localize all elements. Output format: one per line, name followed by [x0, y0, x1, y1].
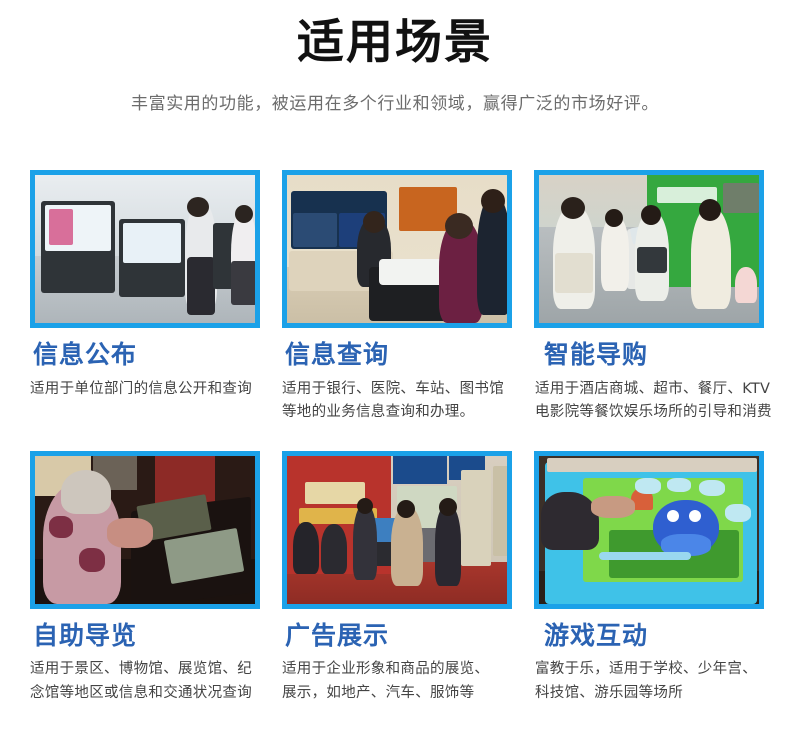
scenario-description: 适用于银行、医院、车站、图书馆 等地的业务信息查询和办理。 [282, 378, 512, 425]
scenario-card-advertising-display[interactable]: 广告展示 适用于企业形象和商品的展览、 展示，如地产、汽车、服饰等 [282, 451, 512, 706]
card-row-1: 信息公布 适用于单位部门的信息公开和查询 [30, 170, 765, 425]
scenario-title: 信息查询 [285, 341, 512, 370]
desc-line: 念馆等地区或信息和交通状况查询 [30, 682, 260, 705]
scenario-photo-smart-shopping-guide [534, 170, 764, 328]
scenario-card-grid: 信息公布 适用于单位部门的信息公开和查询 [30, 170, 765, 705]
desc-line: 科技馆、游乐园等场所 [535, 682, 764, 705]
scenario-card-info-query[interactable]: 信息查询 适用于银行、医院、车站、图书馆 等地的业务信息查询和办理。 [282, 170, 512, 425]
desc-line: 电影院等餐饮娱乐场所的引导和消费 [535, 401, 764, 424]
scenario-photo-advertising-display [282, 451, 512, 609]
scenario-card-self-guided-tour[interactable]: 自助导览 适用于景区、博物馆、展览馆、纪 念馆等地区或信息和交通状况查询 [30, 451, 260, 706]
scenario-photo-self-guided-tour [30, 451, 260, 609]
desc-line: 适用于景区、博物馆、展览馆、纪 [30, 658, 260, 681]
scenario-card-info-release[interactable]: 信息公布 适用于单位部门的信息公开和查询 [30, 170, 260, 425]
scenario-description: 适用于酒店商城、超市、餐厅、KTV 电影院等餐饮娱乐场所的引导和消费 [535, 378, 764, 425]
scenario-description: 适用于单位部门的信息公开和查询 [30, 378, 260, 401]
scenario-title: 自助导览 [33, 622, 260, 651]
card-row-2: 自助导览 适用于景区、博物馆、展览馆、纪 念馆等地区或信息和交通状况查询 [30, 451, 765, 706]
scenario-title: 智能导购 [544, 341, 764, 370]
scenario-photo-info-query [282, 170, 512, 328]
scenario-description: 适用于企业形象和商品的展览、 展示，如地产、汽车、服饰等 [282, 658, 512, 705]
page-title: 适用场景 [0, 18, 790, 67]
scenario-card-game-interaction[interactable]: 游戏互动 富教于乐，适用于学校、少年宫、 科技馆、游乐园等场所 [534, 451, 764, 706]
scenario-title: 游戏互动 [544, 622, 764, 651]
scenario-description: 富教于乐，适用于学校、少年宫、 科技馆、游乐园等场所 [535, 658, 764, 705]
desc-line: 适用于单位部门的信息公开和查询 [30, 378, 260, 401]
desc-line: 适用于酒店商城、超市、餐厅、KTV [535, 378, 764, 401]
page-subtitle: 丰富实用的功能，被运用在多个行业和领域，赢得广泛的市场好评。 [0, 89, 790, 114]
scenario-photo-game-interaction [534, 451, 764, 609]
applicable-scenarios-page: 适用场景 丰富实用的功能，被运用在多个行业和领域，赢得广泛的市场好评。 [0, 0, 790, 730]
desc-line: 富教于乐，适用于学校、少年宫、 [535, 658, 764, 681]
desc-line: 等地的业务信息查询和办理。 [282, 401, 512, 424]
scenario-title: 广告展示 [285, 622, 512, 651]
scenario-description: 适用于景区、博物馆、展览馆、纪 念馆等地区或信息和交通状况查询 [30, 658, 260, 705]
desc-line: 展示，如地产、汽车、服饰等 [282, 682, 512, 705]
scenario-title: 信息公布 [33, 341, 260, 370]
scenario-photo-info-release [30, 170, 260, 328]
desc-line: 适用于企业形象和商品的展览、 [282, 658, 512, 681]
page-header: 适用场景 丰富实用的功能，被运用在多个行业和领域，赢得广泛的市场好评。 [0, 0, 790, 114]
desc-line: 适用于银行、医院、车站、图书馆 [282, 378, 512, 401]
scenario-card-smart-shopping-guide[interactable]: 智能导购 适用于酒店商城、超市、餐厅、KTV 电影院等餐饮娱乐场所的引导和消费 [534, 170, 764, 425]
